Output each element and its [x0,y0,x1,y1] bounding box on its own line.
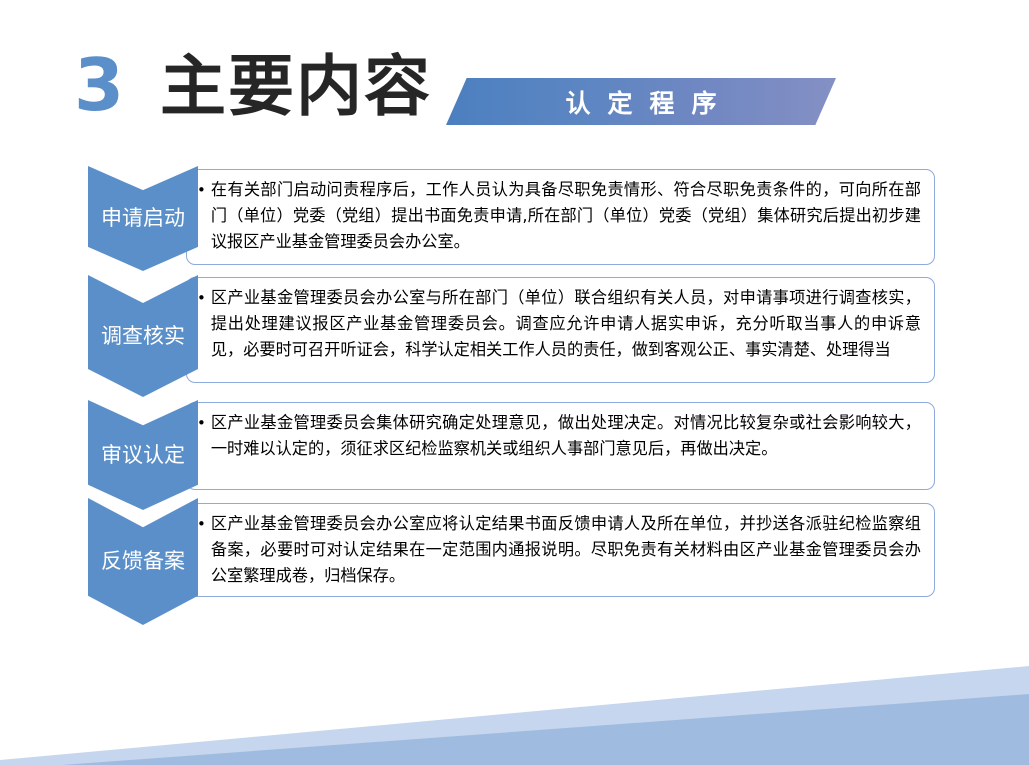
process-flow: 申请启动 • 在有关部门启动问责程序后，工作人员认为具备尽职免责情形、符合尽职免… [0,0,1029,660]
step-content-box-3: • 区产业基金管理委员会集体研究确定处理意见，做出处理决定。对情况比较复杂或社会… [186,402,935,490]
step-content-box-4: • 区产业基金管理委员会办公室应将认定结果书面反馈申请人及所在单位，并抄送各派驻… [186,503,935,597]
slide-canvas: 3 主要内容 认定程序 申请启动 • 在有关部门启动问责程序后，工作人员认为具备… [0,0,1029,765]
step-chevron-1 [88,166,198,271]
step-content-text-2: 区产业基金管理委员会办公室与所在部门（单位）联合组织有关人员，对申请事项进行调查… [211,285,921,363]
step-chevron-3 [88,400,198,510]
step-content-text-4: 区产业基金管理委员会办公室应将认定结果书面反馈申请人及所在单位，并抄送各派驻纪检… [211,511,921,589]
bullet-icon: • [197,177,211,255]
step-chevron-2 [88,275,198,397]
bullet-icon: • [197,511,211,589]
step-content-box-2: • 区产业基金管理委员会办公室与所在部门（单位）联合组织有关人员，对申请事项进行… [186,277,935,383]
step-content-text-3: 区产业基金管理委员会集体研究确定处理意见，做出处理决定。对情况比较复杂或社会影响… [211,410,921,462]
step-chevron-4 [88,498,198,625]
step-content-box-1: • 在有关部门启动问责程序后，工作人员认为具备尽职免责情形、符合尽职免责条件的，… [186,169,935,265]
bullet-icon: • [197,410,211,462]
step-content-text-1: 在有关部门启动问责程序后，工作人员认为具备尽职免责情形、符合尽职免责条件的，可向… [211,177,921,255]
bullet-icon: • [197,285,211,363]
